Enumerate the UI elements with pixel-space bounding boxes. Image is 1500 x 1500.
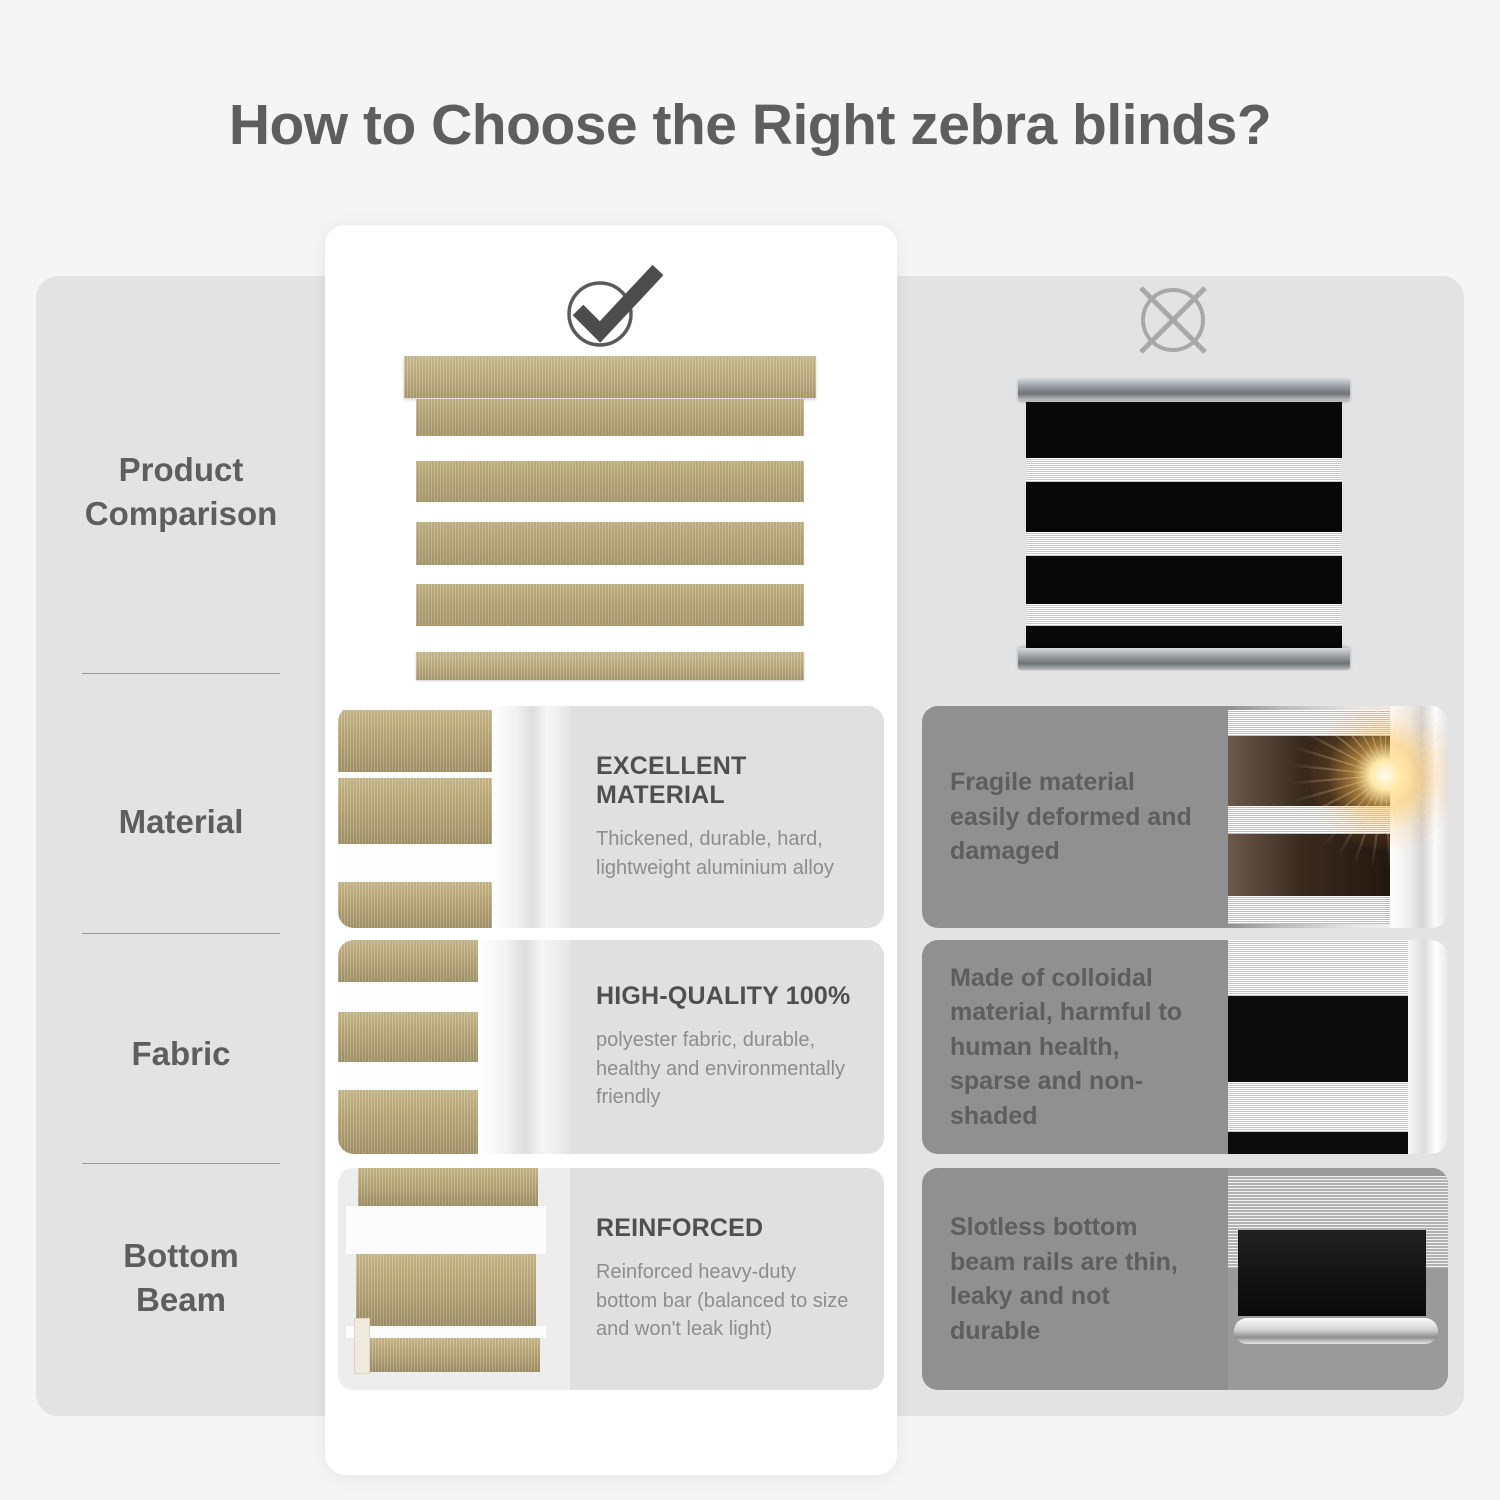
good-bottom-beam-body: Reinforced heavy-duty bottom bar (balanc… (596, 1258, 862, 1343)
bad-feature-card-material: Fragile material easily deformed and dam… (922, 706, 1448, 928)
check-circle-icon (548, 262, 668, 352)
bad-feature-card-bottom-beam: Slotless bottom beam rails are thin, lea… (922, 1168, 1448, 1390)
bad-band-opaque-3 (1026, 556, 1342, 604)
bad-hero-product-image (1018, 378, 1350, 670)
good-fabric-heading: HIGH-QUALITY 100% (596, 982, 862, 1011)
bad-band-opaque-2 (1026, 482, 1342, 532)
bad-band-sheer-1 (1026, 458, 1342, 482)
bad-bottom-beam-label: Slotless bottom beam rails are thin, lea… (950, 1210, 1206, 1348)
headrail-top (404, 356, 816, 398)
row-divider-1 (82, 673, 280, 674)
row-label-material: Material (36, 800, 326, 844)
row-label-column: Product Comparison Material Fabric Botto… (36, 276, 326, 1416)
bad-bottom-rail (1018, 648, 1350, 670)
blind-slat-1 (416, 461, 804, 502)
good-bottom-beam-text: REINFORCED Reinforced heavy-duty bottom … (570, 1168, 884, 1390)
blind-slat-3 (416, 584, 804, 626)
cross-circle-icon (1125, 280, 1221, 360)
bad-material-label: Fragile material easily deformed and dam… (950, 765, 1206, 869)
bad-feature-card-fabric: Made of colloidal material, harmful to h… (922, 940, 1448, 1154)
bad-band-opaque-4 (1026, 626, 1342, 650)
blind-bottom-bar (416, 652, 804, 680)
good-fabric-text: HIGH-QUALITY 100% polyester fabric, dura… (570, 940, 884, 1154)
row-label-fabric: Fabric (36, 1032, 326, 1076)
bad-band-sheer-2 (1026, 532, 1342, 556)
good-material-text: EXCELLENT MATERIAL Thickened, durable, h… (570, 706, 884, 928)
row-label-bottom-beam: Bottom Beam (36, 1234, 326, 1321)
bad-material-image (1228, 706, 1448, 928)
row-label-line-2: Bottom Beam (36, 1234, 326, 1321)
bad-bottom-beam-text: Slotless bottom beam rails are thin, lea… (922, 1168, 1228, 1390)
good-fabric-body: polyester fabric, durable, healthy and e… (596, 1026, 862, 1111)
row-divider-3 (82, 1163, 280, 1164)
headrail-body (416, 399, 804, 436)
good-fabric-image (338, 940, 570, 1154)
good-feature-card-material: EXCELLENT MATERIAL Thickened, durable, h… (338, 706, 884, 928)
bad-band-sheer-3 (1026, 604, 1342, 626)
bad-bottom-beam-image (1228, 1168, 1448, 1390)
good-material-body: Thickened, durable, hard, lightweight al… (596, 825, 862, 882)
bad-fabric-text: Made of colloidal material, harmful to h… (922, 940, 1228, 1154)
row-label-product-comparison: Product Comparison (36, 448, 326, 535)
blind-slat-2 (416, 522, 804, 565)
bad-material-text: Fragile material easily deformed and dam… (922, 706, 1228, 928)
good-hero-product-image (408, 356, 812, 696)
page-title: How to Choose the Right zebra blinds? (0, 92, 1500, 158)
row-divider-2 (82, 933, 280, 934)
bad-top-rail (1018, 378, 1350, 400)
good-bottom-beam-image (338, 1168, 570, 1390)
good-feature-card-bottom-beam: REINFORCED Reinforced heavy-duty bottom … (338, 1168, 884, 1390)
bad-fabric-label: Made of colloidal material, harmful to h… (950, 961, 1206, 1134)
good-material-heading: EXCELLENT MATERIAL (596, 752, 862, 810)
bad-band-opaque-1 (1026, 402, 1342, 458)
good-bottom-beam-heading: REINFORCED (596, 1214, 862, 1243)
row-label-line-1: Product Comparison (36, 448, 326, 535)
good-material-image (338, 706, 570, 928)
bad-fabric-image (1228, 940, 1448, 1154)
good-feature-card-fabric: HIGH-QUALITY 100% polyester fabric, dura… (338, 940, 884, 1154)
